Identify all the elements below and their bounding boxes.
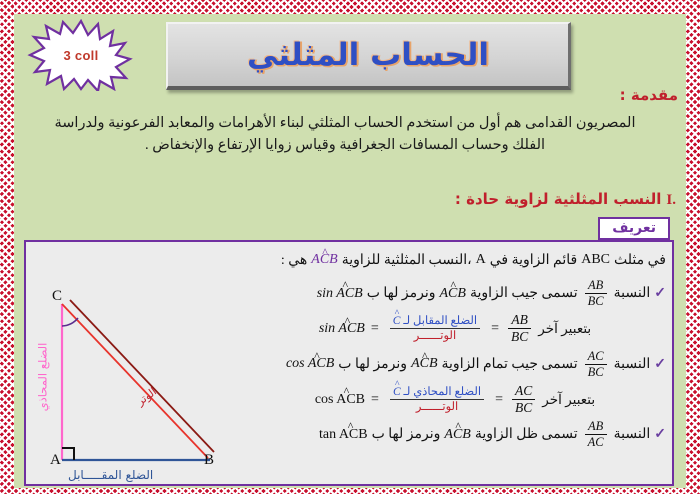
decorative-border-right [686, 0, 700, 494]
tan-angle: ^ ACB [444, 427, 470, 443]
sin-symbol: ^ sin ACB [317, 286, 363, 302]
def-intro-end: هي : [281, 252, 307, 269]
sin-eq-num: الضلع المقابل لـ ^ C [390, 315, 480, 327]
sin-lead: النسبة [614, 285, 651, 302]
cos-ratio-fraction: AC BC [585, 350, 607, 379]
definition-intro-line: في مثلث ABC قائم الزاوية في A ،النسب الم… [244, 246, 666, 274]
cos-eq-num-words: الضلع المحاذي لـ [403, 386, 481, 398]
cos-lead: النسبة [614, 356, 651, 373]
cos-result-fraction: AC BC [512, 384, 535, 415]
cos-eq-equals-2: = [495, 392, 503, 408]
sin-eq-lhs-text: sin ACB [319, 321, 365, 336]
sin-frac-den: BC [585, 295, 607, 308]
fraction-bar [390, 399, 484, 400]
page-title: الحساب المثلثي [247, 40, 489, 71]
angle-hat-icon: ^ [344, 384, 350, 399]
sin-eq-num-words: الضلع المقابل لـ [403, 315, 477, 327]
equation-sin: بتعبير آخر ^ sin ACB = الضلع المقابل لـ … [244, 313, 666, 344]
opposite-side-label: الضلع المقـــــابل [68, 468, 153, 482]
decorative-border-top [0, 0, 700, 14]
angle-hat-icon: ^ [348, 419, 354, 434]
vertex-label-c: C [52, 288, 62, 305]
definition-tab: تعريف [598, 217, 670, 240]
cos-tail: ونرمز لها ب [338, 356, 407, 373]
def-intro-triangle: ABC [581, 252, 610, 268]
decorative-border-bottom [0, 488, 700, 494]
badge-label: 3 coll [26, 19, 136, 91]
level-badge: 3 coll [26, 19, 136, 91]
angle-hat-icon: ^ [342, 278, 347, 293]
ratio-item-cos: ✓ النسبة AC BC تسمى جيب تمام الزاوية ^ A… [244, 350, 666, 379]
tan-ratio-fraction: AB AC [585, 420, 607, 449]
sin-eq-num-angle: ^ C [393, 315, 401, 327]
sin-eq-den: الوتــــــر [411, 330, 459, 342]
angle-hat-icon: ^ [314, 349, 319, 364]
equation-cos: بتعبير آخر ^ cos ACB = الضلع المحاذي لـ … [244, 384, 666, 415]
section-heading: I. النسب المثلثية لزاوية حادة : [455, 190, 676, 209]
cos-middle: تسمى جيب تمام الزاوية [442, 356, 578, 373]
sin-eq-equals-1: = [371, 321, 379, 337]
cos-frac-num: AC [585, 350, 607, 363]
check-icon: ✓ [654, 426, 666, 443]
sin-ratio-fraction: AB BC [585, 279, 607, 308]
cos-eq-rhs-den: BC [512, 401, 535, 415]
tan-lead: النسبة [614, 426, 651, 443]
angle-hat-icon: ^ [395, 380, 399, 390]
sin-symbol-text: sin ACB [317, 286, 363, 301]
sin-eq-rhs-den: BC [508, 330, 531, 344]
tan-symbol-text: tan ACB [319, 427, 368, 442]
angle-hat-icon: ^ [422, 349, 427, 364]
def-intro-after: ،النسب المثلثية للزاوية [342, 252, 472, 269]
cos-symbol-text: cos ACB [286, 356, 334, 371]
sin-tail: ونرمز لها ب [367, 285, 436, 302]
cos-frac-den: BC [585, 366, 607, 379]
definition-content: في مثلث ABC قائم الزاوية في A ،النسب الم… [244, 246, 666, 454]
decorative-border-left [0, 0, 14, 494]
section-numeral: I. [666, 192, 676, 209]
cos-definition-fraction: الضلع المحاذي لـ ^ C الوتــــــر [390, 386, 484, 413]
tan-frac-num: AB [585, 420, 606, 433]
def-intro-vertex: A [476, 252, 486, 268]
ratio-item-tan: ✓ النسبة AB AC تسمى ظل الزاوية ^ ACB ونر… [244, 420, 666, 449]
angle-hat-icon: ^ [450, 278, 455, 293]
def-intro-angle: ^ ACB [311, 252, 337, 268]
intro-line-2: الفلك وحساب المسافات الجغرافية وقياس زوا… [20, 134, 670, 156]
sin-result-fraction: AB BC [508, 313, 531, 344]
def-intro-middle: قائم الزاوية في [490, 252, 577, 269]
ratio-item-sin: ✓ النسبة AB BC تسمى جيب الزاوية ^ ACB ون… [244, 279, 666, 308]
adjacent-side-label: الضلع المحاذي [35, 343, 49, 412]
tan-symbol: ^ tan ACB [319, 427, 368, 443]
angle-hat-icon: ^ [344, 314, 349, 329]
definition-box: C A B الضلع المقـــــابل الضلع المحاذي ا… [24, 240, 674, 486]
triangle-figure: C A B الضلع المقـــــابل الضلع المحاذي ا… [32, 282, 242, 482]
vertex-label-a: A [50, 452, 61, 469]
intro-heading: مقدمة : [620, 86, 678, 104]
check-icon: ✓ [654, 285, 666, 302]
sin-frac-num: AB [585, 279, 606, 292]
cos-symbol: ^ cos ACB [286, 356, 334, 372]
section-title: النسب المثلثية لزاوية حادة : [455, 190, 662, 208]
cos-eq-rhs-num: AC [512, 384, 535, 398]
cos-eq-num-angle: ^ C [393, 386, 401, 398]
cos-eq-den: الوتــــــر [413, 401, 461, 413]
cos-eq-lhs: ^ cos ACB [315, 392, 365, 408]
angle-hat-icon: ^ [455, 419, 460, 434]
cos-eq-num: الضلع المحاذي لـ ^ C [390, 386, 484, 398]
sin-definition-fraction: الضلع المقابل لـ ^ C الوتــــــر [390, 315, 480, 342]
sin-eq-lhs: ^ sin ACB [319, 321, 365, 337]
page-content: 3 coll الحساب المثلثي مقدمة : المصريون ا… [14, 14, 686, 488]
page-root: 3 coll الحساب المثلثي مقدمة : المصريون ا… [0, 0, 700, 494]
sin-eq-aside: بتعبير آخر [538, 321, 591, 337]
cos-equation-row: ^ cos ACB = الضلع المحاذي لـ ^ C [315, 384, 538, 415]
vertex-label-b: B [204, 452, 214, 469]
sin-angle: ^ ACB [440, 286, 466, 302]
cos-eq-equals-1: = [371, 392, 379, 408]
angle-hat-icon: ^ [322, 245, 327, 260]
cos-angle: ^ ACB [411, 356, 437, 372]
title-bar: الحساب المثلثي [166, 22, 571, 90]
intro-line-1: المصريون القدامى هم أول من استخدم الحساب… [20, 112, 670, 134]
check-icon: ✓ [654, 356, 666, 373]
angle-hat-icon: ^ [395, 309, 399, 319]
def-intro-before: في مثلث [614, 252, 666, 269]
tan-middle: تسمى ظل الزاوية [475, 426, 578, 443]
sin-middle: تسمى جيب الزاوية [470, 285, 578, 302]
cos-eq-lhs-text: cos ACB [315, 392, 365, 407]
tan-frac-den: AC [585, 436, 607, 449]
sin-equation-row: ^ sin ACB = الضلع المقابل لـ ^ C [319, 313, 534, 344]
sin-eq-equals-2: = [491, 321, 499, 337]
tan-tail: ونرمز لها ب [372, 426, 441, 443]
intro-paragraph: المصريون القدامى هم أول من استخدم الحساب… [20, 112, 670, 157]
cos-eq-aside: بتعبير آخر [542, 392, 595, 408]
sin-eq-rhs-num: AB [508, 313, 531, 327]
